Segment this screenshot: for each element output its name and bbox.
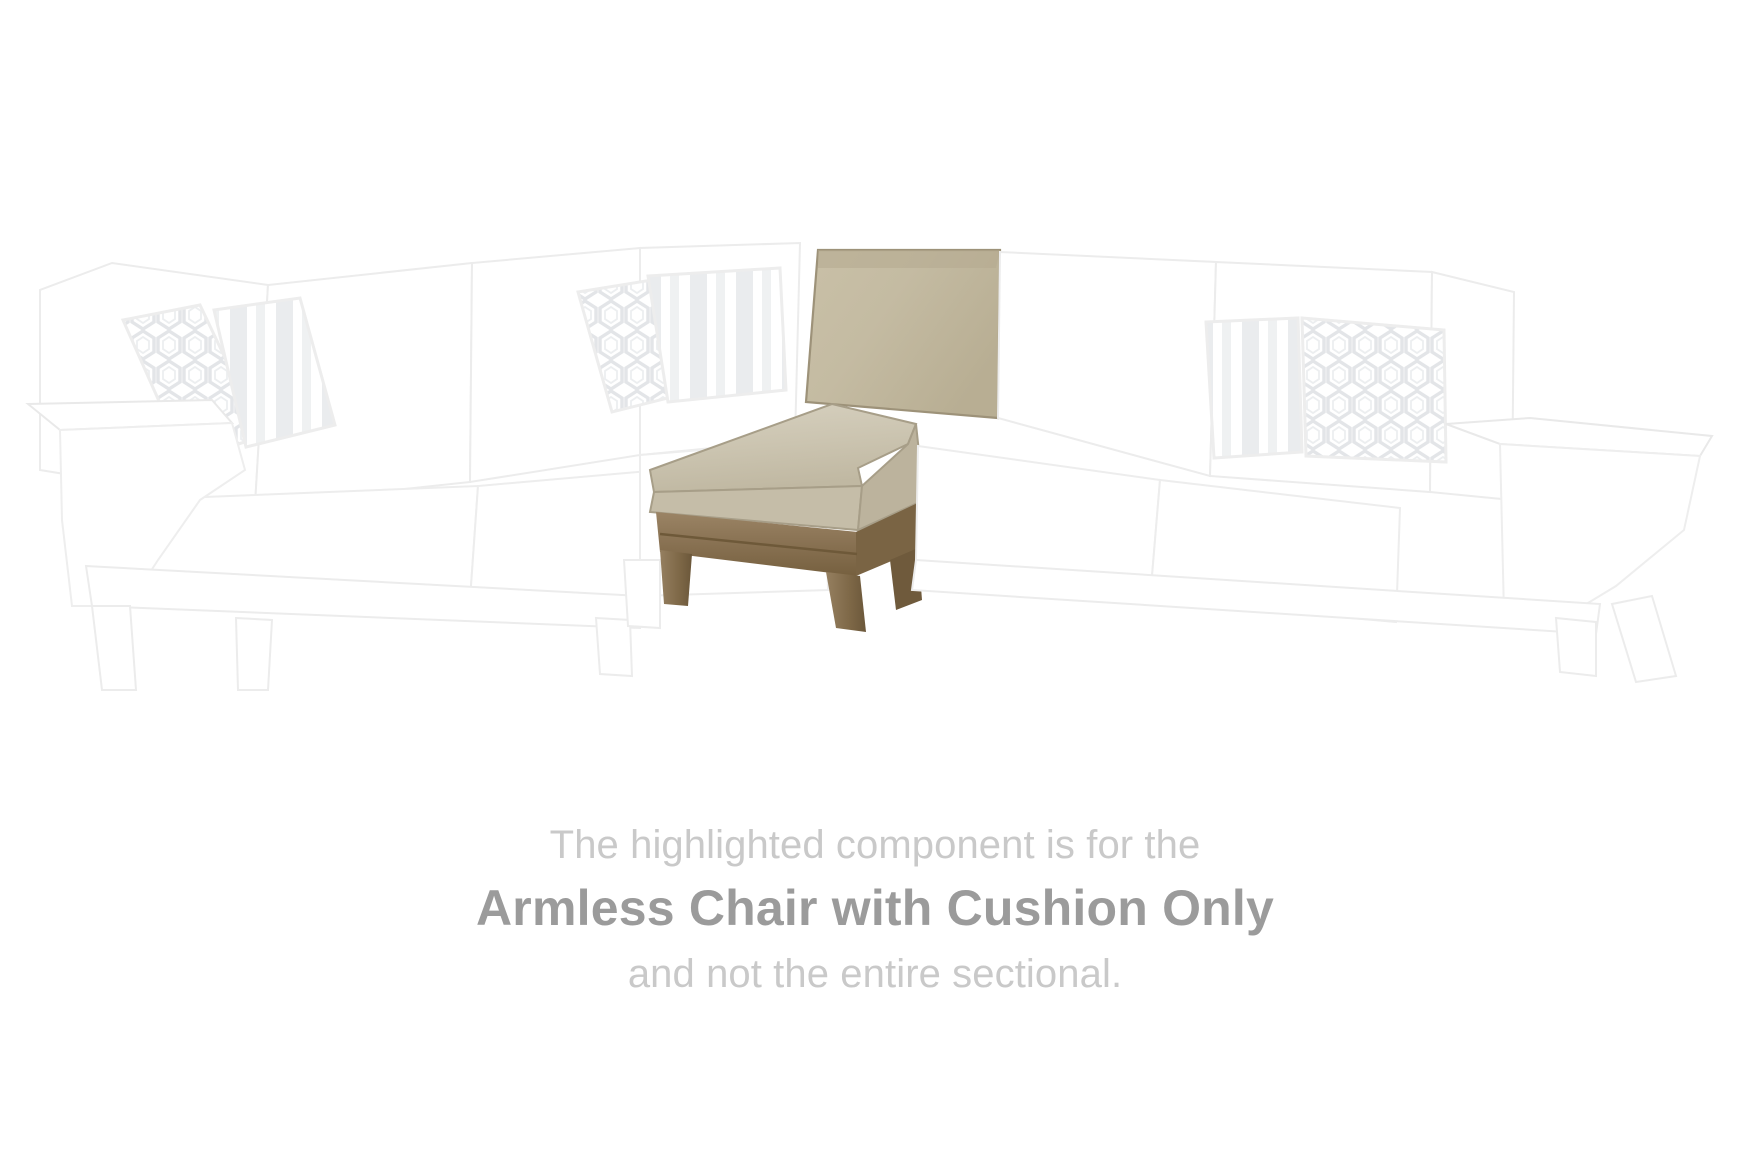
left-sofa-section	[28, 248, 660, 690]
armless-chair-back-welt	[818, 250, 1000, 268]
caption-component-name: Armless Chair with Cushion Only	[0, 878, 1750, 939]
left-sofa-leg-front	[92, 606, 136, 690]
right-sofa-leg-rear	[1556, 618, 1596, 676]
caption-line-disclaimer: and not the entire sectional.	[0, 949, 1750, 999]
armless-chair-back-cushion	[806, 250, 1000, 418]
caption-line-intro: The highlighted component is for the	[0, 820, 1750, 870]
left-sofa-leg-rear	[596, 618, 632, 676]
product-highlight-page: The highlighted component is for the Arm…	[0, 0, 1750, 1167]
right-sofa-section	[912, 252, 1712, 682]
caption-block: The highlighted component is for the Arm…	[0, 820, 1750, 999]
corner-leg	[624, 560, 660, 628]
right-sofa-leg-front	[1612, 596, 1676, 682]
sectional-sofa-graphic	[0, 0, 1750, 800]
left-sofa-leg-mid	[236, 618, 272, 690]
right-sofa-arm-panel	[1500, 444, 1700, 620]
striped-pillow-right	[1206, 318, 1302, 458]
product-illustration	[0, 0, 1750, 800]
right-sofa-back-cushion-1	[998, 252, 1216, 476]
armless-chair-leg-front-right	[826, 572, 866, 632]
armless-chair-leg-front-left	[660, 550, 692, 606]
striped-pillow-corner	[648, 268, 786, 402]
lattice-pattern-pillow-right	[1302, 318, 1446, 462]
